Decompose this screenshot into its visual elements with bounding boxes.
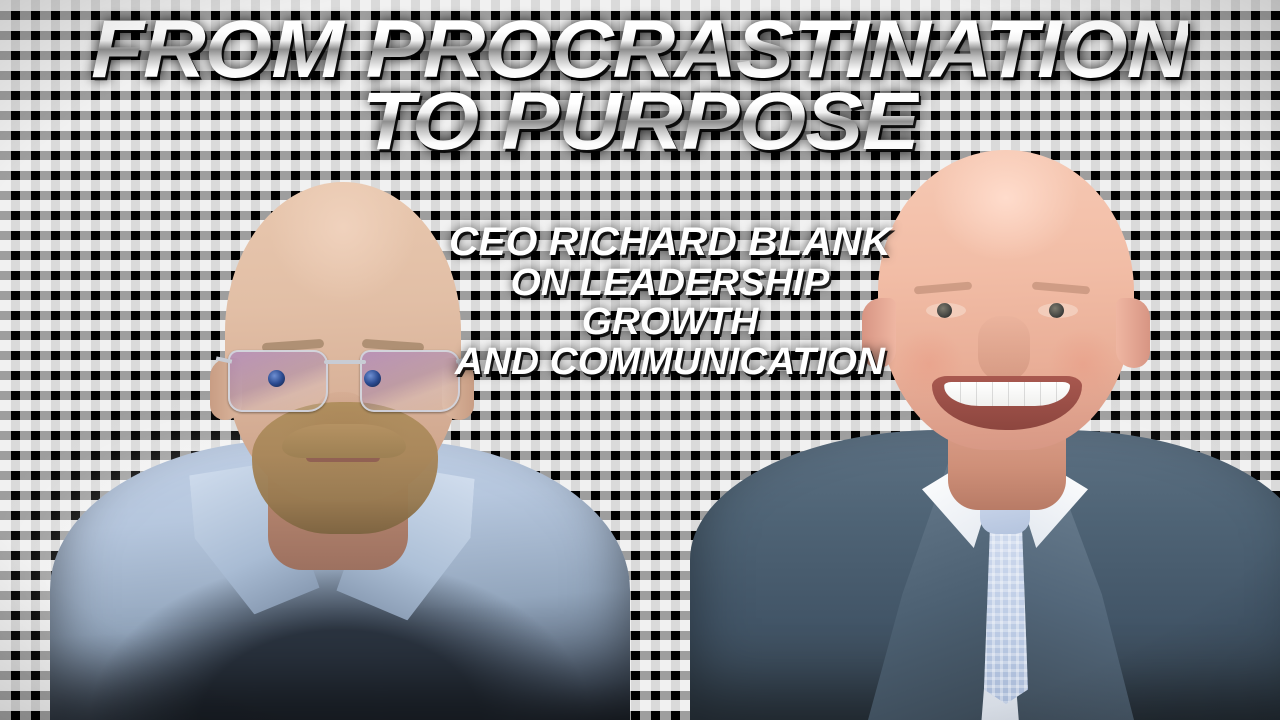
thumbnail-canvas: FROM PROCRASTINATION TO PURPOSE CEO RICH… xyxy=(0,0,1280,720)
right-teeth xyxy=(944,382,1070,406)
right-eye-right xyxy=(1038,303,1078,318)
left-moustache xyxy=(282,424,406,458)
subtitle-line-4: AND COMMUNICATION xyxy=(333,343,1006,383)
right-iris-right xyxy=(1049,303,1064,318)
headline-line-2-text: TO PURPOSE xyxy=(361,84,919,159)
left-beard xyxy=(252,402,438,534)
subtitle-block: CEO RICHARD BLANK ON LEADERSHIP GROWTH A… xyxy=(340,222,1000,382)
subtitle-line-2: ON LEADERSHIP xyxy=(333,264,1006,304)
left-eye xyxy=(268,370,285,387)
headline-line-2: TO PURPOSE xyxy=(0,84,1280,159)
right-necktie xyxy=(984,522,1028,704)
right-ear-right xyxy=(1116,298,1150,368)
subtitle-line-1: CEO RICHARD BLANK xyxy=(333,222,1006,264)
subtitle-line-3: GROWTH xyxy=(333,303,1006,343)
